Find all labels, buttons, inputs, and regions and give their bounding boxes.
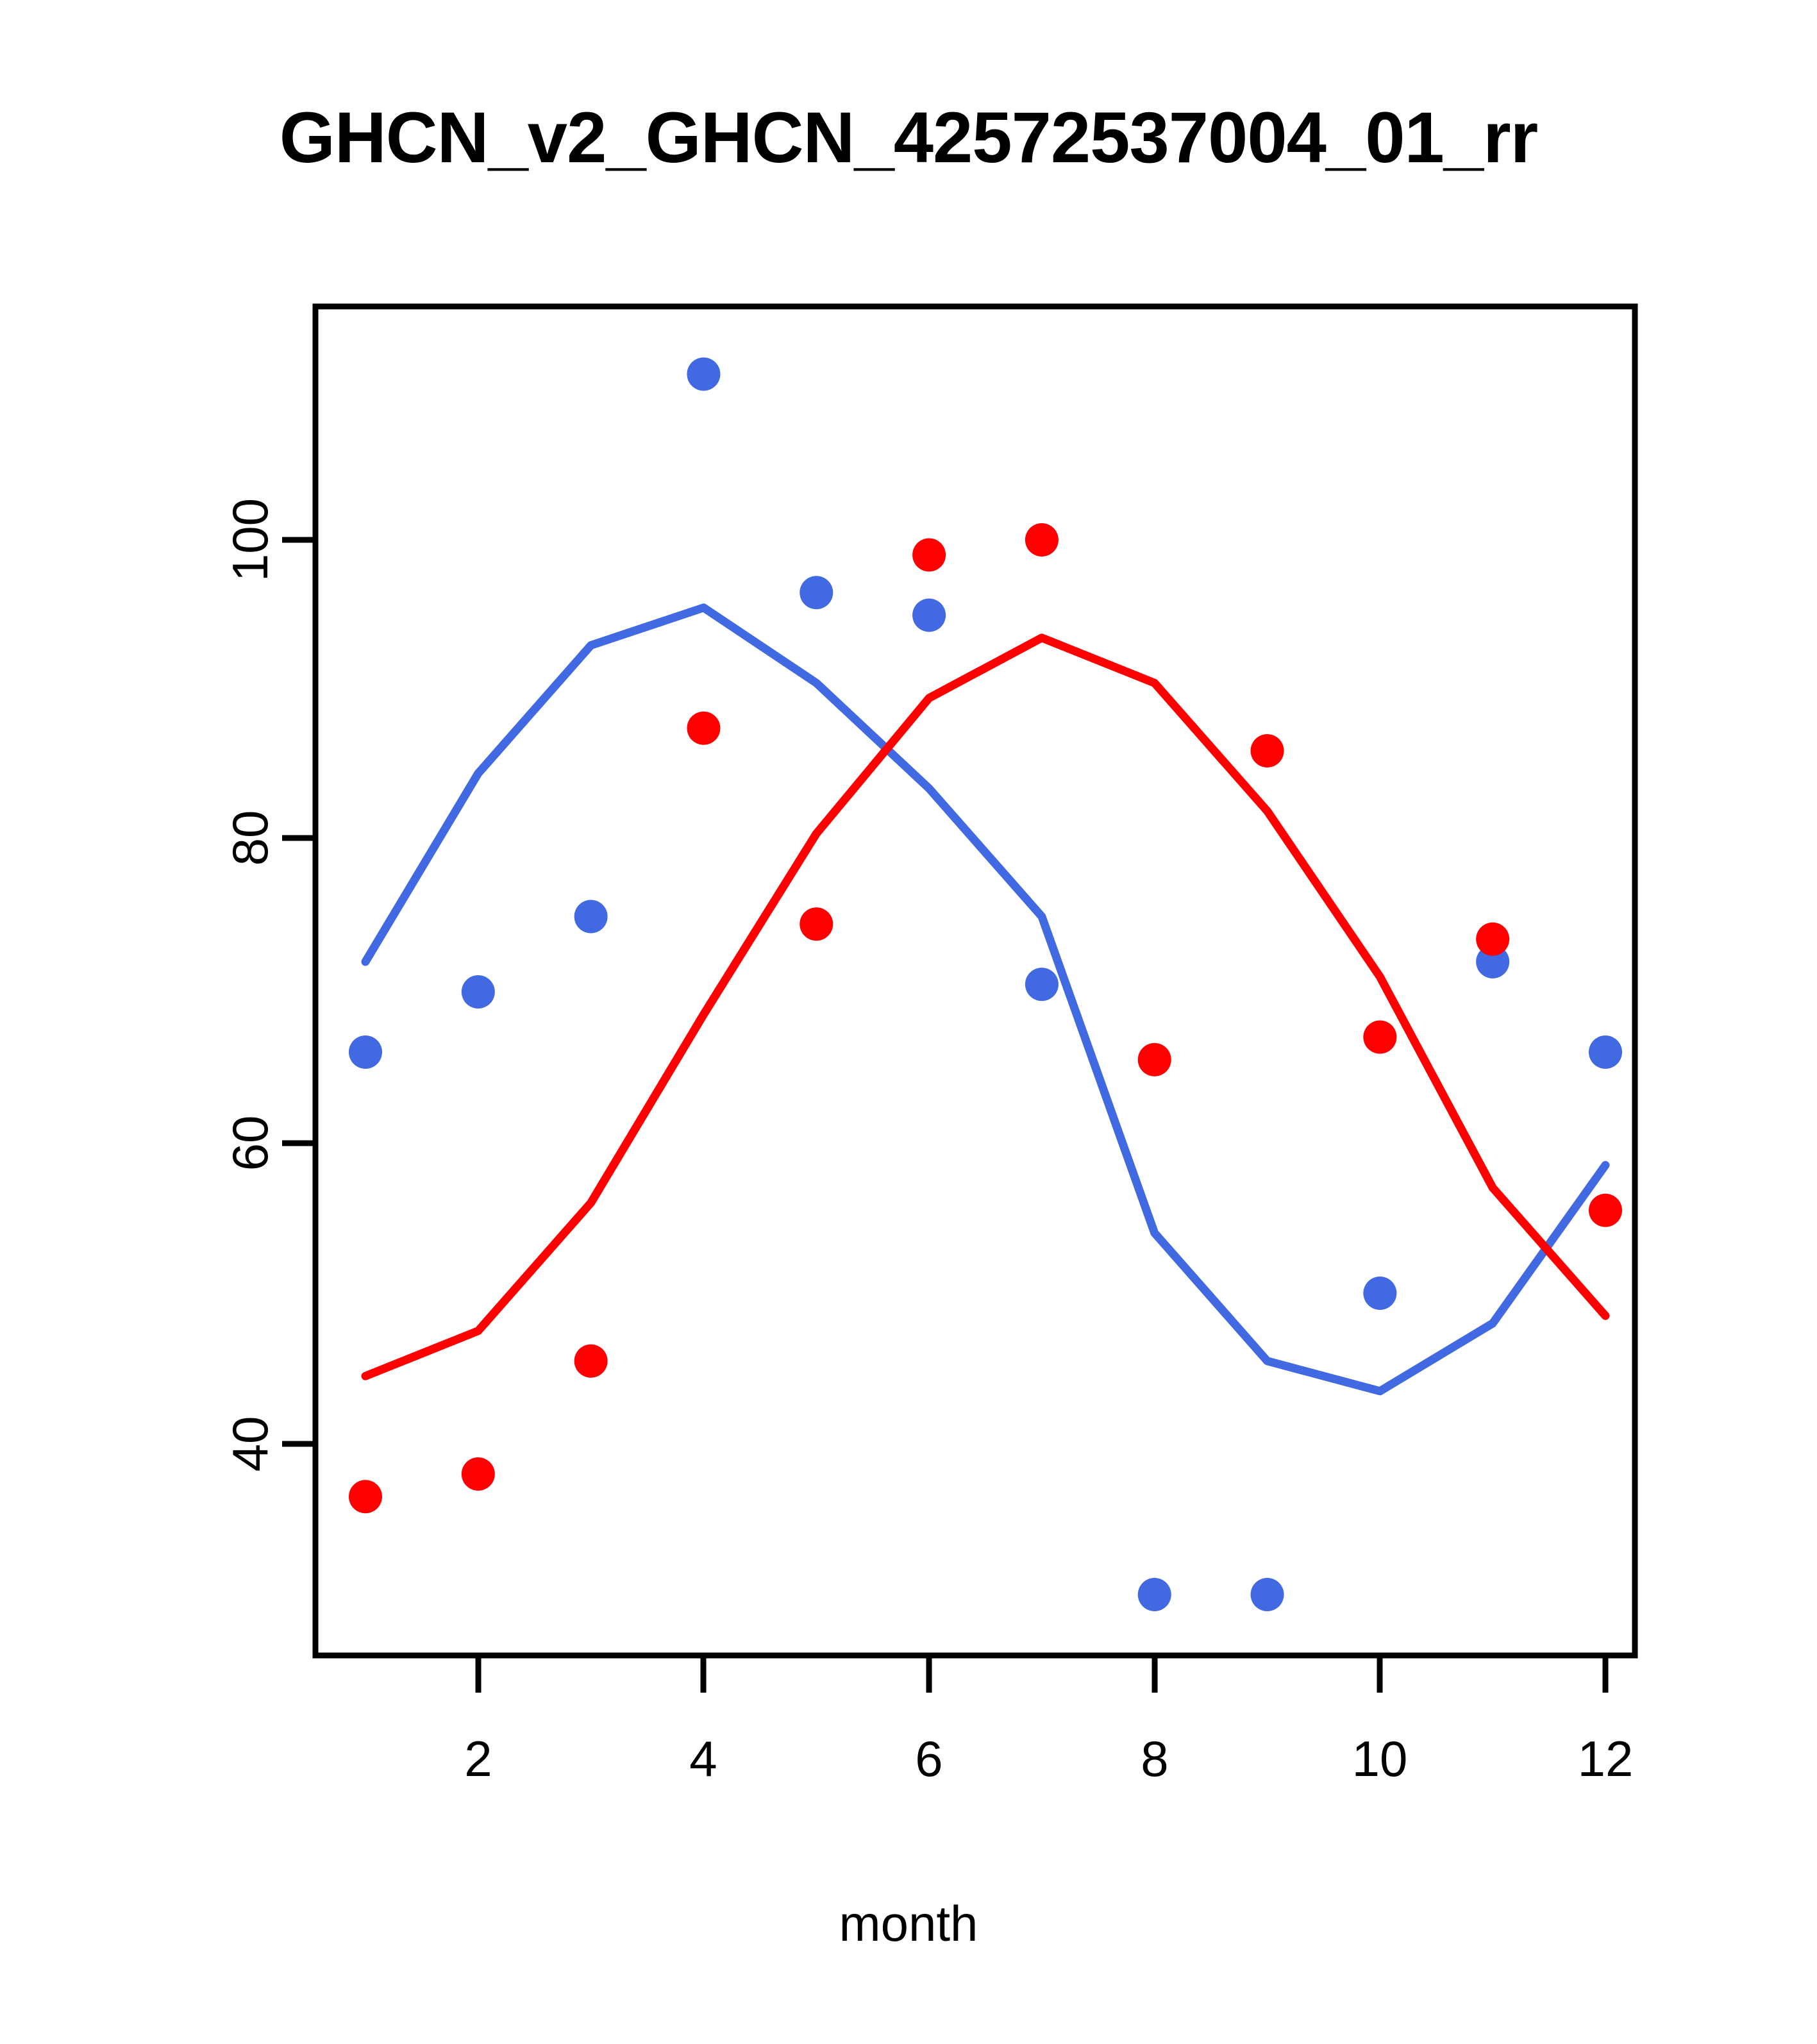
data-point xyxy=(1589,1035,1622,1069)
x-axis-ticks xyxy=(478,1655,1605,1693)
data-point xyxy=(462,975,495,1009)
x-axis-tick-labels: 2 4 6 8 10 12 xyxy=(464,1730,1633,1787)
plot-frame xyxy=(315,306,1635,1655)
data-point xyxy=(912,539,946,572)
x-tick-label-10: 10 xyxy=(1352,1730,1408,1787)
data-point xyxy=(800,576,833,609)
x-axis-label: month xyxy=(0,1895,1817,1953)
x-tick-label-8: 8 xyxy=(1141,1730,1168,1787)
x-tick-label-6: 6 xyxy=(915,1730,942,1787)
data-point xyxy=(574,900,608,934)
chart-page: GHCN_v2_GHCN_42572537004_01_rr 100 80 60… xyxy=(0,0,1817,2044)
data-point xyxy=(1138,1578,1171,1611)
data-point xyxy=(1363,1277,1396,1310)
data-point xyxy=(349,1035,382,1069)
y-tick-label-80: 80 xyxy=(222,810,278,866)
series-line-blue-line xyxy=(365,608,1605,1391)
data-point xyxy=(800,907,833,941)
x-tick-label-4: 4 xyxy=(689,1730,717,1787)
y-tick-label-60: 60 xyxy=(222,1116,278,1171)
series-lines-group xyxy=(365,608,1605,1391)
plot-area: 100 80 60 40 2 4 6 8 10 12 xyxy=(0,0,1817,2044)
data-point xyxy=(462,1457,495,1491)
y-tick-label-40: 40 xyxy=(222,1416,278,1472)
data-point xyxy=(1251,1578,1284,1611)
data-point xyxy=(1363,1021,1396,1054)
y-axis-ticks xyxy=(282,540,315,1444)
data-point xyxy=(1589,1194,1622,1227)
data-point xyxy=(1025,523,1059,557)
data-point xyxy=(687,712,720,745)
series-points-group xyxy=(349,358,1622,1612)
y-axis-tick-labels: 100 80 60 40 xyxy=(222,498,278,1471)
data-point xyxy=(1025,968,1059,1001)
x-tick-label-2: 2 xyxy=(464,1730,492,1787)
data-point xyxy=(1138,1043,1171,1076)
series-line-red-line xyxy=(365,638,1605,1377)
data-point xyxy=(574,1345,608,1378)
data-point xyxy=(1251,734,1284,767)
x-tick-label-12: 12 xyxy=(1578,1730,1634,1787)
data-point xyxy=(349,1480,382,1513)
data-point xyxy=(687,358,720,391)
y-tick-label-100: 100 xyxy=(222,498,278,582)
data-point xyxy=(1476,923,1509,956)
data-point xyxy=(912,599,946,632)
